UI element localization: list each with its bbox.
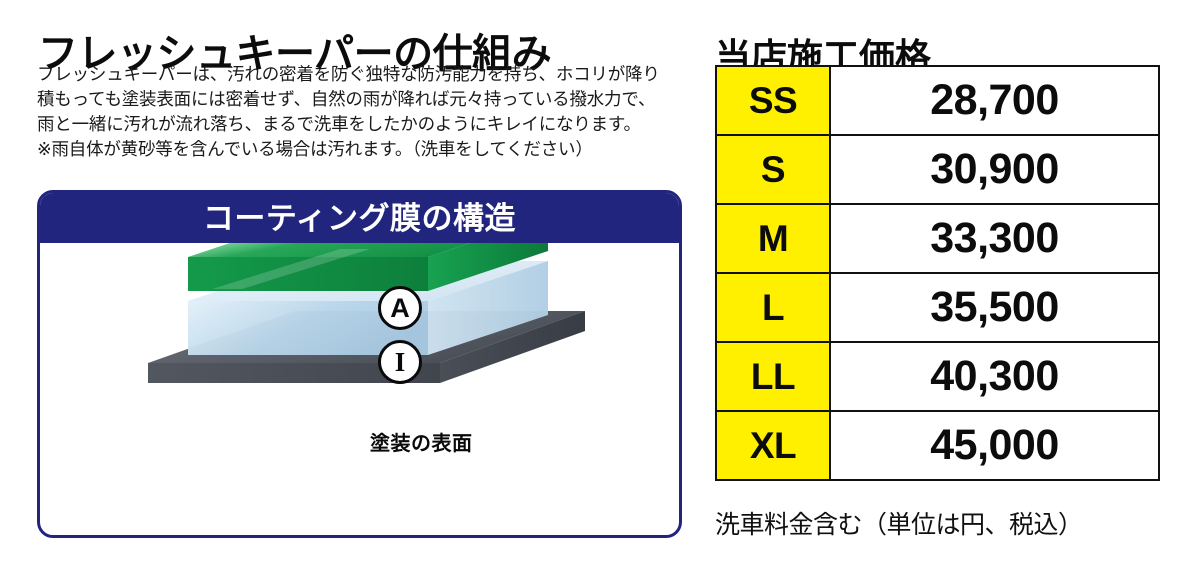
- table-row: S 30,900: [716, 135, 1159, 204]
- coating-layers-diagram: A I 塗装の表面: [40, 243, 679, 423]
- panel-header: コーティング膜の構造: [40, 193, 679, 243]
- price-table-body: SS 28,700 S 30,900 M 33,300 L 35,500 LL …: [716, 66, 1159, 480]
- table-row: XL 45,000: [716, 411, 1159, 480]
- description-line-2: 積もっても塗装表面には密着せず、自然の雨が降れば元々持っている撥水力で、: [37, 87, 687, 112]
- table-row: L 35,500: [716, 273, 1159, 342]
- size-cell: L: [716, 273, 830, 342]
- price-note: 洗車料金含む（単位は円、税込）: [715, 505, 1083, 541]
- table-row: LL 40,300: [716, 342, 1159, 411]
- size-cell: M: [716, 204, 830, 273]
- price-cell: 45,000: [830, 411, 1159, 480]
- price-table: SS 28,700 S 30,900 M 33,300 L 35,500 LL …: [715, 65, 1160, 481]
- description-line-4: ※雨自体が黄砂等を含んでいる場合は汚れます。（洗車をしてください）: [37, 137, 687, 162]
- surface-label: 塗装の表面: [370, 427, 473, 456]
- description-line-3: 雨と一緒に汚れが流れ落ち、まるで洗車をしたかのようにキレイになります。: [37, 112, 687, 137]
- panel-title: コーティング膜の構造: [203, 203, 516, 234]
- right-column: 当店施工価格 SS 28,700 S 30,900 M 33,300 L 35,…: [695, 0, 1200, 580]
- left-column: フレッシュキーパーの仕組み フレッシュキーパーは、汚れの密着を防ぐ独特な防汚能力…: [0, 0, 695, 580]
- price-cell: 30,900: [830, 135, 1159, 204]
- layer-badge-i: I: [378, 340, 422, 384]
- table-row: M 33,300: [716, 204, 1159, 273]
- price-cell: 33,300: [830, 204, 1159, 273]
- size-cell: SS: [716, 66, 830, 135]
- description-text: フレッシュキーパーは、汚れの密着を防ぐ独特な防汚能力を持ち、ホコリが降り 積もっ…: [37, 62, 687, 162]
- price-cell: 40,300: [830, 342, 1159, 411]
- layer-badge-a: A: [378, 286, 422, 330]
- layers-illustration: [40, 243, 682, 423]
- price-cell: 28,700: [830, 66, 1159, 135]
- price-cell: 35,500: [830, 273, 1159, 342]
- size-cell: S: [716, 135, 830, 204]
- table-row: SS 28,700: [716, 66, 1159, 135]
- size-cell: LL: [716, 342, 830, 411]
- size-cell: XL: [716, 411, 830, 480]
- coating-structure-panel: コーティング膜の構造: [37, 190, 682, 538]
- description-line-1: フレッシュキーパーは、汚れの密着を防ぐ独特な防汚能力を持ち、ホコリが降り: [37, 62, 687, 87]
